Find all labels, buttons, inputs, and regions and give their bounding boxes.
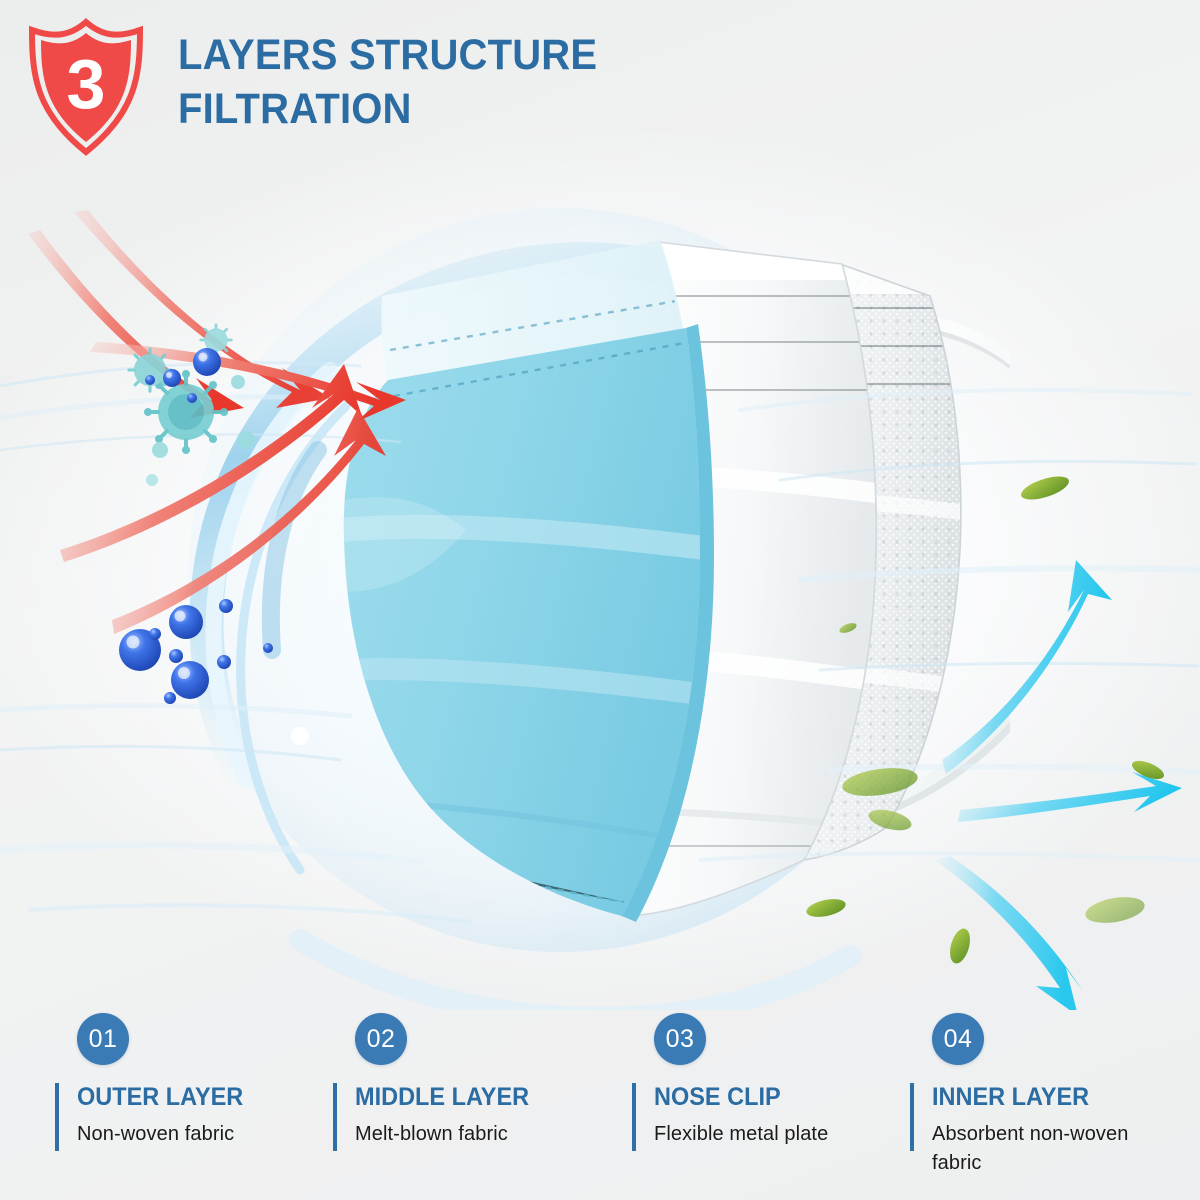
legend-desc-03: Flexible metal plate bbox=[654, 1120, 904, 1149]
legend-item-01[interactable]: 01 OUTER LAYER Non-woven fabric bbox=[55, 1005, 335, 1200]
legend-item-04[interactable]: 04 INNER LAYER Absorbent non-woven fabri… bbox=[910, 1005, 1190, 1200]
legend-rule-03 bbox=[632, 1083, 636, 1151]
legend-desc-02: Melt-blown fabric bbox=[355, 1120, 605, 1149]
legend-item-02[interactable]: 02 MIDDLE LAYER Melt-blown fabric bbox=[333, 1005, 613, 1200]
legend-item-03[interactable]: 03 NOSE CLIP Flexible metal plate bbox=[632, 1005, 912, 1200]
title-line-2: FILTRATION bbox=[178, 82, 885, 136]
face-mask-graphic bbox=[230, 200, 1010, 990]
legend-desc-04: Absorbent non-woven fabric bbox=[932, 1120, 1182, 1178]
legend-label-02: MIDDLE LAYER bbox=[355, 1083, 529, 1112]
legend-badge-03: 03 bbox=[654, 1013, 706, 1065]
legend-label-04: INNER LAYER bbox=[932, 1083, 1089, 1112]
infographic-canvas: 3 LAYERS STRUCTURE FILTRATION bbox=[0, 0, 1200, 1200]
mask-illustration bbox=[0, 150, 1200, 1010]
legend-badge-04: 04 bbox=[932, 1013, 984, 1065]
page-title: LAYERS STRUCTURE FILTRATION bbox=[178, 28, 885, 136]
legend-rule-04 bbox=[910, 1083, 914, 1151]
legend-desc-01: Non-woven fabric bbox=[77, 1120, 327, 1149]
shield-number: 3 bbox=[67, 45, 106, 123]
legend-badge-02: 02 bbox=[355, 1013, 407, 1065]
legend-label-03: NOSE CLIP bbox=[654, 1083, 781, 1112]
header: 3 LAYERS STRUCTURE FILTRATION bbox=[0, 0, 1200, 175]
legend: 01 OUTER LAYER Non-woven fabric 02 MIDDL… bbox=[0, 1005, 1200, 1200]
legend-rule-02 bbox=[333, 1083, 337, 1151]
title-line-1: LAYERS STRUCTURE bbox=[178, 31, 597, 79]
shield-icon: 3 bbox=[24, 16, 148, 156]
legend-rule-01 bbox=[55, 1083, 59, 1151]
legend-label-01: OUTER LAYER bbox=[77, 1083, 243, 1112]
legend-badge-01: 01 bbox=[77, 1013, 129, 1065]
mask-outer-layer bbox=[342, 240, 714, 922]
